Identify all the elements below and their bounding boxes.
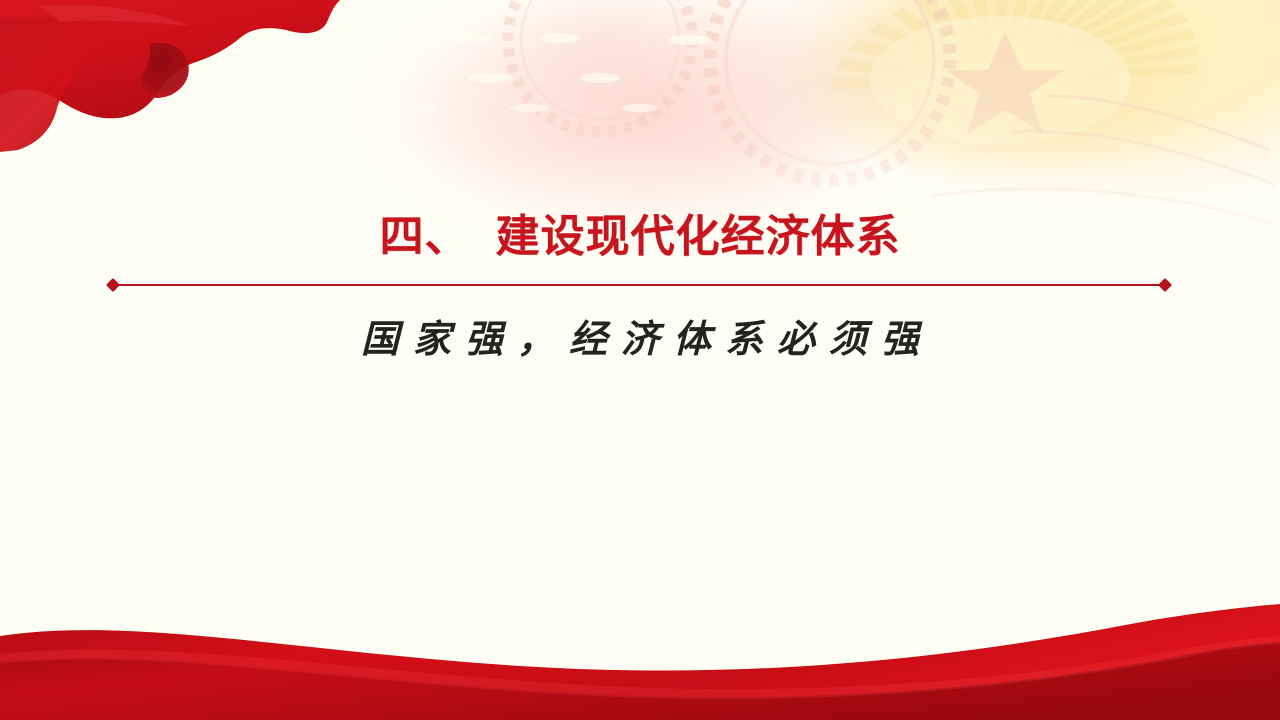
slide-content: 四、建设现代化经济体系 国家强，经济体系必须强 — [0, 0, 1280, 720]
title-text: 建设现代化经济体系 — [496, 211, 901, 262]
divider-line — [114, 284, 1164, 286]
page-subtitle: 国家强，经济体系必须强 — [0, 310, 1280, 368]
divider-diamond-right — [1158, 278, 1172, 292]
slide-canvas: 四、建设现代化经济体系 国家强，经济体系必须强 — [0, 0, 1280, 720]
page-title: 四、建设现代化经济体系 — [0, 206, 1280, 268]
title-number: 四、 — [380, 211, 470, 262]
